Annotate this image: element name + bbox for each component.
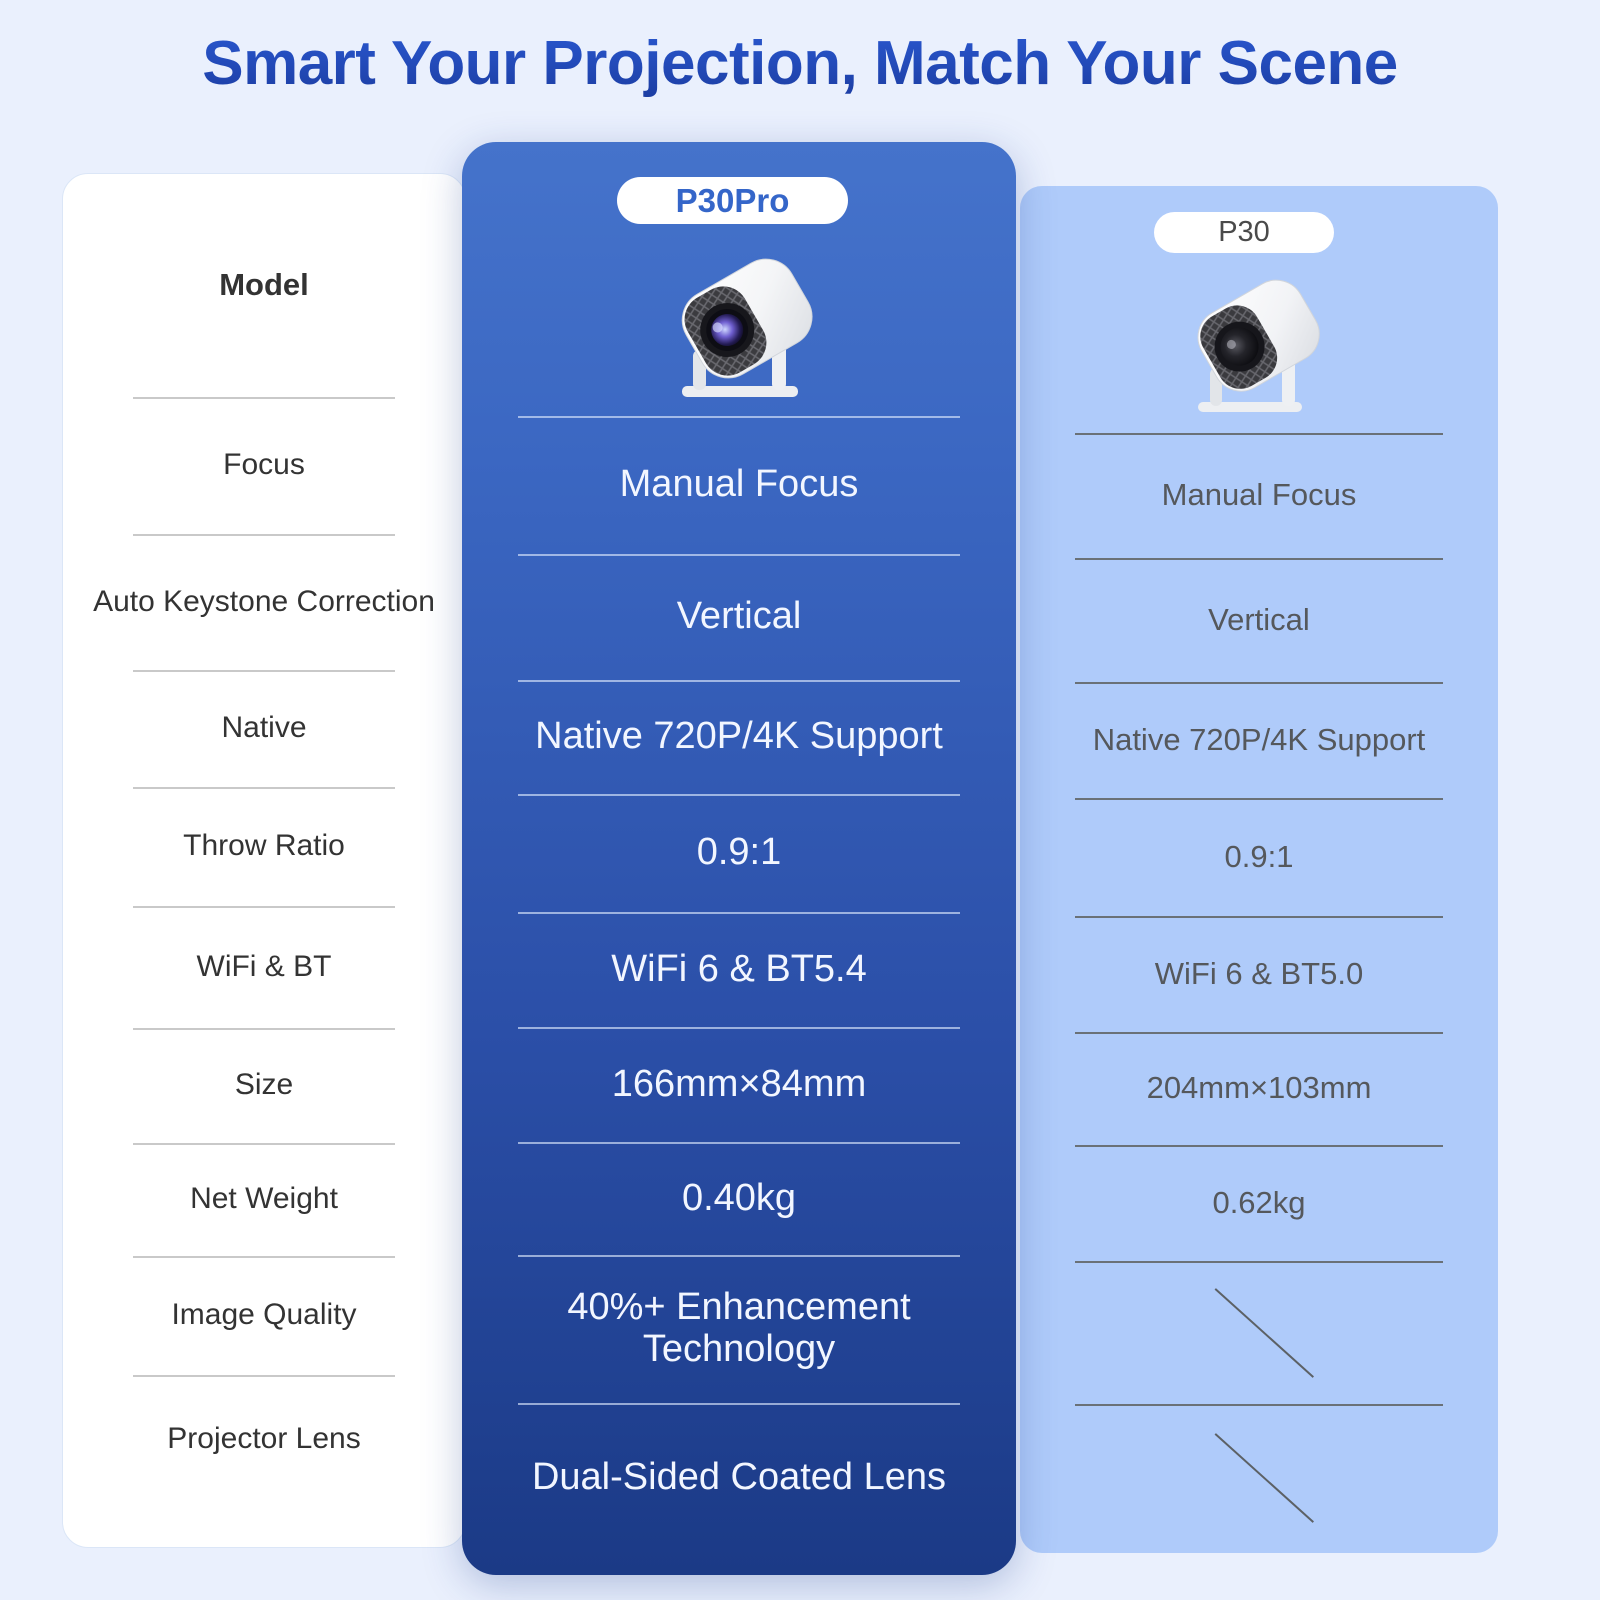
spec-label: Net Weight bbox=[62, 1182, 466, 1217]
diagonal-slash-icon bbox=[1020, 1404, 1498, 1552]
compare-row-throw-ratio: 0.9:1 bbox=[1020, 798, 1498, 916]
featured-row-keystone: Vertical bbox=[462, 554, 1016, 680]
compare-value: 0.62kg bbox=[1020, 1186, 1498, 1221]
spec-header-row: Model bbox=[62, 173, 466, 397]
featured-value-column: Manual Focus Vertical Native 720P/4K Sup… bbox=[462, 142, 1016, 1553]
featured-row-image-quality: 40%+ Enhancement Technology bbox=[462, 1255, 1016, 1403]
spec-label: Image Quality bbox=[62, 1298, 466, 1333]
projector-icon-p30 bbox=[1172, 262, 1344, 422]
featured-row-wifi-bt: WiFi 6 & BT5.4 bbox=[462, 912, 1016, 1027]
featured-row-focus: Manual Focus bbox=[462, 416, 1016, 554]
badge-p30: P30 bbox=[1154, 212, 1334, 253]
spec-row-wifi-bt: WiFi & BT bbox=[62, 906, 466, 1028]
spec-label: WiFi & BT bbox=[62, 950, 466, 985]
row-divider bbox=[1075, 558, 1443, 560]
spec-row-projector-lens: Projector Lens bbox=[62, 1375, 466, 1503]
row-divider bbox=[518, 1027, 960, 1029]
spec-label: Native bbox=[62, 711, 466, 746]
row-divider bbox=[1075, 1032, 1443, 1034]
featured-value: 166mm×84mm bbox=[462, 1064, 1016, 1106]
row-divider bbox=[1075, 916, 1443, 918]
compare-row-wifi-bt: WiFi 6 & BT5.0 bbox=[1020, 916, 1498, 1032]
badge-p30pro-label: P30Pro bbox=[676, 182, 790, 220]
row-divider bbox=[518, 1403, 960, 1405]
badge-p30pro: P30Pro bbox=[617, 177, 848, 224]
compare-value: Vertical bbox=[1020, 603, 1498, 638]
featured-row-net-weight: 0.40kg bbox=[462, 1142, 1016, 1255]
row-divider bbox=[133, 534, 395, 536]
row-divider bbox=[133, 1375, 395, 1377]
featured-row-size: 166mm×84mm bbox=[462, 1027, 1016, 1142]
row-divider bbox=[1075, 798, 1443, 800]
row-divider bbox=[133, 1028, 395, 1030]
spec-label: Auto Keystone Correction bbox=[62, 585, 466, 620]
badge-p30-label: P30 bbox=[1218, 216, 1270, 249]
compare-row-keystone: Vertical bbox=[1020, 558, 1498, 682]
featured-value: WiFi 6 & BT5.4 bbox=[462, 949, 1016, 991]
row-divider bbox=[133, 787, 395, 789]
row-divider bbox=[133, 397, 395, 399]
featured-value: 40%+ Enhancement Technology bbox=[462, 1287, 1016, 1371]
row-divider bbox=[518, 794, 960, 796]
compare-value: Native 720P/4K Support bbox=[1020, 723, 1498, 758]
spec-label: Projector Lens bbox=[62, 1422, 466, 1457]
spec-row-image-quality: Image Quality bbox=[62, 1256, 466, 1375]
spec-header-label: Model bbox=[62, 267, 466, 303]
row-divider bbox=[518, 1255, 960, 1257]
row-divider bbox=[1075, 1145, 1443, 1147]
featured-value: 0.9:1 bbox=[462, 832, 1016, 874]
row-divider bbox=[133, 906, 395, 908]
featured-row-projector-lens: Dual-Sided Coated Lens bbox=[462, 1403, 1016, 1553]
row-divider bbox=[518, 912, 960, 914]
featured-row-throw-ratio: 0.9:1 bbox=[462, 794, 1016, 912]
featured-value: Native 720P/4K Support bbox=[462, 716, 1016, 758]
compare-value: 204mm×103mm bbox=[1020, 1071, 1498, 1106]
row-divider bbox=[133, 670, 395, 672]
comparison-infographic: Smart Your Projection, Match Your Scene bbox=[0, 0, 1600, 1600]
spec-label-column: Model Focus Auto Keystone Correction Nat… bbox=[62, 173, 466, 1503]
spec-label: Focus bbox=[62, 448, 466, 483]
row-divider bbox=[1075, 433, 1443, 435]
featured-value: Dual-Sided Coated Lens bbox=[462, 1457, 1016, 1499]
compare-row-focus: Manual Focus bbox=[1020, 433, 1498, 558]
spec-row-native: Native bbox=[62, 670, 466, 787]
spec-label: Size bbox=[62, 1068, 466, 1103]
row-divider bbox=[518, 1142, 960, 1144]
featured-value: 0.40kg bbox=[462, 1178, 1016, 1220]
compare-row-net-weight: 0.62kg bbox=[1020, 1145, 1498, 1261]
compare-row-size: 204mm×103mm bbox=[1020, 1032, 1498, 1145]
featured-row-native: Native 720P/4K Support bbox=[462, 680, 1016, 794]
compare-row-projector-lens bbox=[1020, 1404, 1498, 1552]
spec-row-net-weight: Net Weight bbox=[62, 1143, 466, 1256]
row-divider bbox=[518, 554, 960, 556]
compare-value: WiFi 6 & BT5.0 bbox=[1020, 957, 1498, 992]
page-title: Smart Your Projection, Match Your Scene bbox=[0, 28, 1600, 99]
featured-value: Vertical bbox=[462, 596, 1016, 638]
spec-row-size: Size bbox=[62, 1028, 466, 1143]
row-divider bbox=[133, 1256, 395, 1258]
compare-value: 0.9:1 bbox=[1020, 840, 1498, 875]
row-divider bbox=[518, 416, 960, 418]
compare-value: Manual Focus bbox=[1020, 478, 1498, 513]
row-divider bbox=[133, 1143, 395, 1145]
spec-label: Throw Ratio bbox=[62, 829, 466, 864]
compare-row-native: Native 720P/4K Support bbox=[1020, 682, 1498, 798]
diagonal-slash-icon bbox=[1020, 1261, 1498, 1404]
featured-value: Manual Focus bbox=[462, 464, 1016, 506]
compare-row-image-quality bbox=[1020, 1261, 1498, 1404]
spec-row-keystone: Auto Keystone Correction bbox=[62, 534, 466, 670]
spec-row-throw-ratio: Throw Ratio bbox=[62, 787, 466, 906]
row-divider bbox=[518, 680, 960, 682]
row-divider bbox=[1075, 682, 1443, 684]
spec-row-focus: Focus bbox=[62, 397, 466, 534]
